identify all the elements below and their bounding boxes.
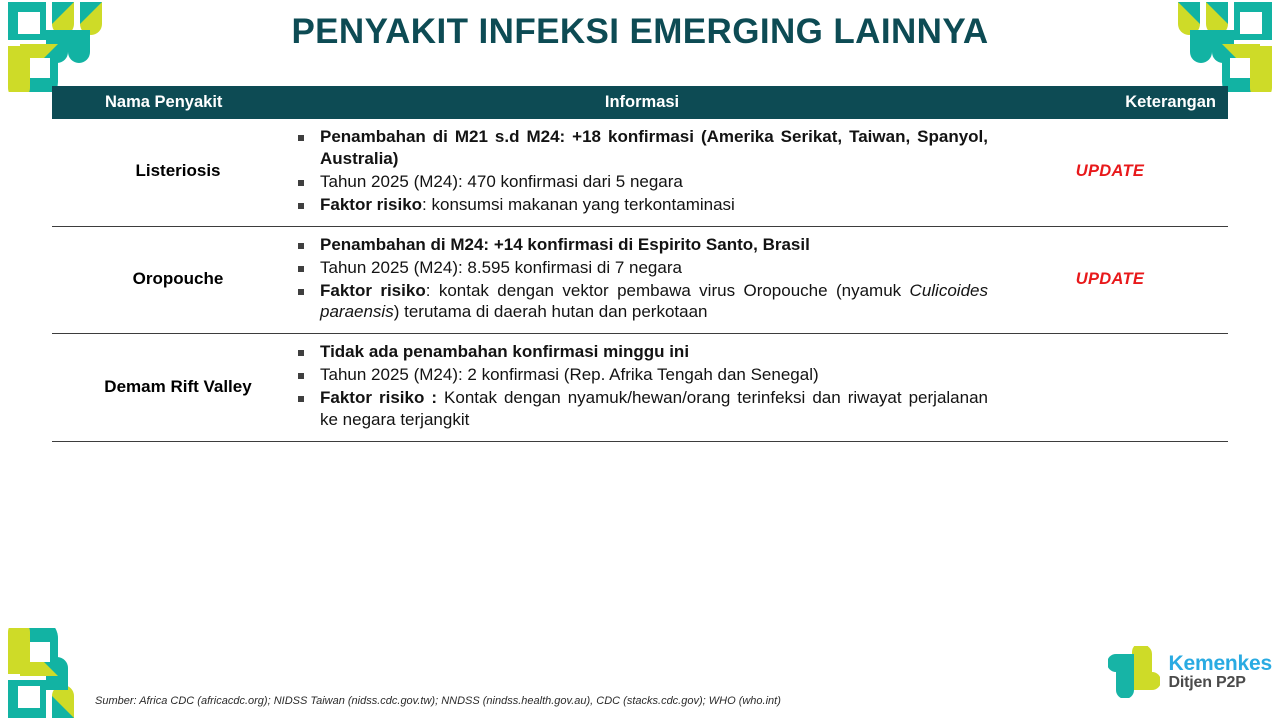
bullet-list: Penambahan di M24: +14 konfirmasi di Esp…	[292, 234, 988, 324]
table-row: Demam Rift ValleyTidak ada penambahan ko…	[52, 334, 1228, 442]
cell-disease-name: Demam Rift Valley	[52, 377, 292, 397]
bullet-text-segment: : kontak dengan vektor pembawa virus Oro…	[426, 281, 910, 300]
logo-line-2: Ditjen P2P	[1169, 675, 1272, 692]
kemenkes-logo: Kemenkes Ditjen P2P	[1108, 646, 1272, 698]
table-body: ListeriosisPenambahan di M21 s.d M24: +1…	[52, 119, 1228, 442]
logo-wordmark: Kemenkes Ditjen P2P	[1169, 653, 1272, 692]
bullet-list: Tidak ada penambahan konfirmasi minggu i…	[292, 341, 988, 431]
bullet-text-segment: Tahun 2025 (M24): 8.595 konfirmasi di 7 …	[320, 258, 682, 277]
clover-icon	[1108, 646, 1160, 698]
bullet-text-segment: Faktor risiko :	[320, 388, 437, 407]
column-header-note: Keterangan	[992, 93, 1228, 112]
table-row: OropouchePenambahan di M24: +14 konfirma…	[52, 227, 1228, 335]
decoration-shapes	[1178, 2, 1272, 92]
decoration-shapes	[8, 628, 74, 718]
bullet-item: Tahun 2025 (M24): 8.595 konfirmasi di 7 …	[292, 257, 988, 279]
bullet-item: Tidak ada penambahan konfirmasi minggu i…	[292, 341, 988, 363]
slide-root: PENYAKIT INFEKSI EMERGING LAINNYA Nama P…	[0, 0, 1280, 720]
bullet-item: Faktor risiko : Kontak dengan nyamuk/hew…	[292, 387, 988, 431]
source-note: Sumber: Africa CDC (africacdc.org); NIDS…	[95, 695, 781, 707]
bullet-item: Faktor risiko: kontak dengan vektor pemb…	[292, 280, 988, 324]
bullet-text-segment: Tahun 2025 (M24): 470 konfirmasi dari 5 …	[320, 172, 683, 191]
bullet-item: Tahun 2025 (M24): 2 konfirmasi (Rep. Afr…	[292, 364, 988, 386]
cell-information: Tidak ada penambahan konfirmasi minggu i…	[292, 341, 992, 432]
table-header-row: Nama Penyakit Informasi Keterangan	[52, 86, 1228, 119]
bullet-item: Penambahan di M21 s.d M24: +18 konfirmas…	[292, 126, 988, 170]
logo-line-1: Kemenkes	[1169, 653, 1272, 675]
cell-disease-name: Oropouche	[52, 269, 292, 289]
bullet-text-segment: Penambahan di M21 s.d M24: +18 konfirmas…	[320, 127, 988, 168]
status-badge: UPDATE	[992, 162, 1228, 181]
bullet-text-segment: Faktor risiko	[320, 195, 422, 214]
page-title: PENYAKIT INFEKSI EMERGING LAINNYA	[140, 12, 1140, 52]
bullet-item: Penambahan di M24: +14 konfirmasi di Esp…	[292, 234, 988, 256]
bullet-text-segment: Penambahan di M24: +14 konfirmasi di Esp…	[320, 235, 810, 254]
bullet-text-segment: Faktor risiko	[320, 281, 426, 300]
cell-information: Penambahan di M21 s.d M24: +18 konfirmas…	[292, 126, 992, 217]
bullet-item: Tahun 2025 (M24): 470 konfirmasi dari 5 …	[292, 171, 988, 193]
decoration-top-right	[1170, 0, 1280, 92]
bullet-text-segment: Tahun 2025 (M24): 2 konfirmasi (Rep. Afr…	[320, 365, 819, 384]
bullet-list: Penambahan di M21 s.d M24: +18 konfirmas…	[292, 126, 988, 216]
bullet-text-segment: : konsumsi makanan yang terkontaminasi	[422, 195, 735, 214]
disease-table: Nama Penyakit Informasi Keterangan Liste…	[52, 86, 1228, 442]
status-badge: UPDATE	[992, 270, 1228, 289]
decoration-bottom-left	[0, 628, 110, 720]
decoration-shapes	[8, 2, 102, 92]
table-row: ListeriosisPenambahan di M21 s.d M24: +1…	[52, 119, 1228, 227]
bullet-item: Faktor risiko: konsumsi makanan yang ter…	[292, 194, 988, 216]
cell-information: Penambahan di M24: +14 konfirmasi di Esp…	[292, 234, 992, 325]
decoration-top-left	[0, 0, 110, 92]
bullet-text-segment: ) terutama di daerah hutan dan perkotaan	[394, 302, 708, 321]
cell-disease-name: Listeriosis	[52, 161, 292, 181]
column-header-disease: Nama Penyakit	[52, 93, 292, 112]
column-header-information: Informasi	[292, 93, 992, 112]
bullet-text-segment: Tidak ada penambahan konfirmasi minggu i…	[320, 342, 689, 361]
